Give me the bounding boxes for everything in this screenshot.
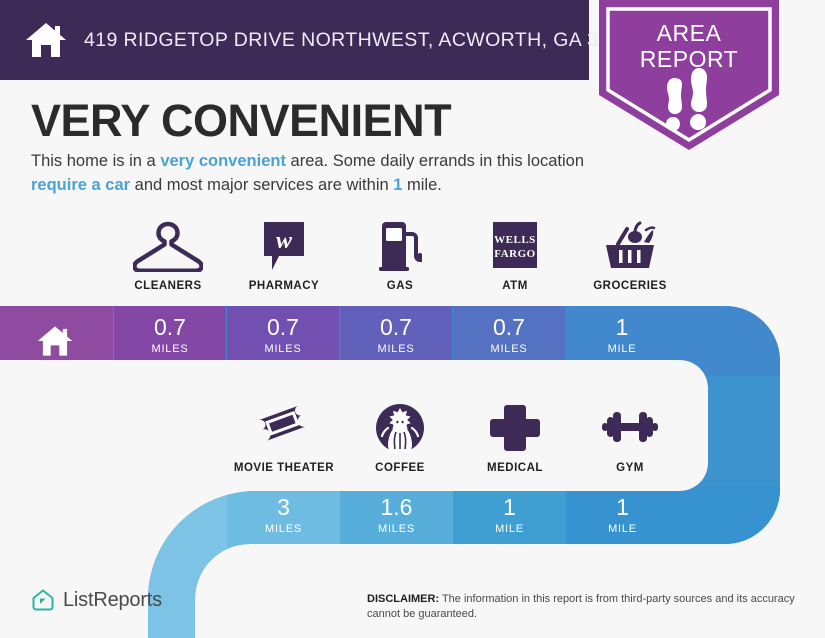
bar-segment-movie: [227, 486, 340, 552]
bar-segment-medical: [453, 486, 566, 552]
clothes-hanger-icon: [110, 216, 226, 272]
bar-segment-atm: [453, 304, 565, 376]
property-address: 419 RIDGETOP DRIVE NORTHWEST, ACWORTH, G…: [84, 29, 643, 52]
summary-part-1: This home is in a: [31, 152, 160, 170]
gas-pump-icon: [342, 216, 458, 272]
icon-cell-pharmacy: w PHARMACY: [226, 216, 342, 292]
listreports-logo[interactable]: ListReports: [31, 588, 162, 612]
icon-cell-gas: GAS: [342, 216, 458, 292]
listreports-wordmark: ListReports: [63, 589, 162, 612]
summary-part-2: area. Some daily errands in this locatio…: [286, 152, 584, 170]
summary-highlight-1: very convenient: [160, 152, 286, 170]
wells-fargo-logo-icon: WELLS FARGO: [457, 216, 573, 272]
icon-label: PHARMACY: [226, 280, 342, 292]
walgreens-logo-icon: w: [226, 216, 342, 272]
page-title: VERY CONVENIENT: [31, 98, 451, 143]
bar-segment-gym: [566, 486, 825, 552]
summary-part-4: mile.: [402, 176, 441, 194]
bar-segment-coffee: [340, 486, 453, 552]
listreports-house-icon: [31, 588, 55, 612]
summary-part-3: and most major services are within: [130, 176, 393, 194]
icon-label: CLEANERS: [110, 280, 226, 292]
icon-label: ATM: [457, 280, 573, 292]
infographic-canvas: 419 RIDGETOP DRIVE NORTHWEST, ACWORTH, G…: [0, 0, 825, 638]
grocery-basket-icon: [572, 216, 688, 272]
svg-text:WELLS: WELLS: [494, 234, 536, 246]
svg-text:w: w: [276, 228, 293, 254]
icon-cell-atm: WELLS FARGO ATM: [457, 216, 573, 292]
bar-segment-tail: [0, 486, 227, 638]
summary-highlight-2: require a car: [31, 176, 130, 194]
bar-segment-pharmacy: [227, 304, 339, 376]
icon-label: GROCERIES: [572, 280, 688, 292]
header-bar: 419 RIDGETOP DRIVE NORTHWEST, ACWORTH, G…: [0, 0, 589, 80]
disclaimer: DISCLAIMER: The information in this repo…: [367, 592, 807, 622]
bar-home-icon: [36, 322, 74, 360]
bar-segment-cleaners: [114, 304, 226, 376]
disclaimer-label: DISCLAIMER:: [367, 593, 439, 605]
bar-segment-gas: [340, 304, 452, 376]
icon-row-primary: CLEANERS w PHARMACY GAS: [0, 216, 825, 306]
home-icon: [24, 18, 68, 62]
icon-cell-cleaners: CLEANERS: [110, 216, 226, 292]
svg-text:FARGO: FARGO: [494, 248, 535, 260]
summary-text: This home is in a very convenient area. …: [31, 150, 591, 198]
icon-label: GAS: [342, 280, 458, 292]
icon-cell-groceries: GROCERIES: [572, 216, 688, 292]
bar-segment-groceries: [566, 304, 825, 376]
area-report-badge: AREA REPORT: [599, 0, 779, 150]
